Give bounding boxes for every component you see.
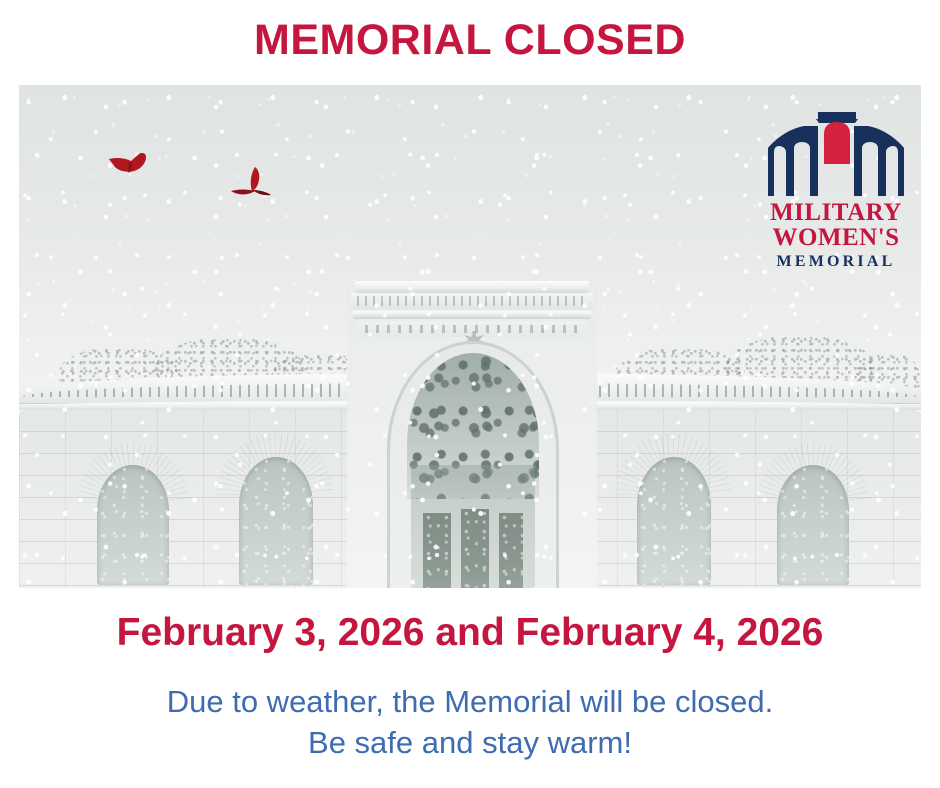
door-panel-left xyxy=(423,513,451,588)
pavilion-attic xyxy=(351,293,593,309)
niche-left-2 xyxy=(239,457,313,585)
niche-left-1 xyxy=(97,465,169,585)
memorial-snow-photo: MILITARY WOMEN'S MEMORIAL xyxy=(19,85,921,588)
page-title: MEMORIAL CLOSED xyxy=(0,18,940,63)
logo-text-memorial: MEMORIAL xyxy=(760,250,912,274)
door-panel-center xyxy=(461,509,489,588)
logo-text-womens: WOMEN'S xyxy=(760,225,912,250)
niche-right-2 xyxy=(777,465,849,585)
announcement-poster: MEMORIAL CLOSED xyxy=(0,0,940,788)
dentil-row xyxy=(357,296,587,306)
cardinal-left-icon xyxy=(105,147,153,183)
arch-glass-panel xyxy=(411,465,535,588)
closure-note: Due to weather, the Memorial will be clo… xyxy=(0,682,940,764)
pavilion-roof-cap xyxy=(355,281,589,293)
closure-note-line-1: Due to weather, the Memorial will be clo… xyxy=(0,682,940,723)
pavilion-entablature xyxy=(353,311,591,319)
closure-dates: February 3, 2026 and February 4, 2026 xyxy=(0,612,940,655)
closure-note-line-2: Be safe and stay warm! xyxy=(0,723,940,764)
niche-right-1 xyxy=(637,457,711,585)
cardinal-right-icon xyxy=(225,163,277,203)
organization-logo: MILITARY WOMEN'S MEMORIAL xyxy=(760,108,912,273)
logo-text-military: MILITARY xyxy=(760,200,912,225)
door-panel-right xyxy=(499,513,523,588)
memorial-arch-mark-icon xyxy=(760,108,912,200)
